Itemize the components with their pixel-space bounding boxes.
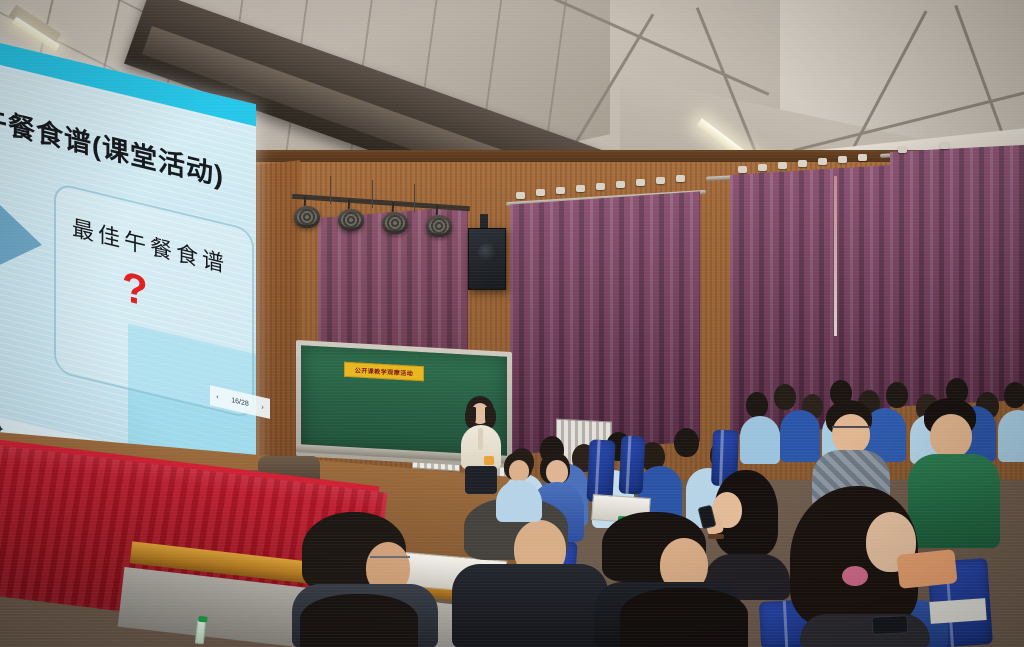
observer-bottom-left [300, 594, 420, 647]
slide-prev-button[interactable]: ‹ [216, 393, 218, 401]
glasses-icon [832, 426, 870, 432]
jacket [800, 614, 930, 647]
event-banner-text: 公开课教学观摩活动 [355, 365, 414, 377]
arrow-right-icon [0, 173, 42, 299]
glasses-icon [370, 556, 410, 564]
curtain-ring [616, 181, 625, 188]
spotlight-lens [297, 209, 317, 225]
light-cable [414, 184, 415, 212]
spotlight-lens [429, 218, 449, 234]
bottle-cap [198, 616, 208, 623]
spotlight-lens [341, 212, 361, 228]
curtain-ring [778, 162, 787, 169]
curtain-ring [838, 156, 847, 163]
light-cable [372, 180, 373, 208]
curtain-ring [758, 164, 767, 171]
hair-tie [842, 566, 868, 586]
light-cable [330, 176, 331, 204]
curtain-panel-left [510, 191, 700, 454]
face [930, 414, 972, 458]
student-near-stage [496, 452, 542, 522]
stage-spotlight-2 [338, 209, 364, 231]
curtain-ring [516, 192, 525, 199]
observer-bottom-right [620, 588, 750, 647]
curtain-panel-right [890, 144, 1024, 407]
student-uniform [998, 410, 1024, 462]
curtain-pull-cord [834, 176, 837, 336]
curtain-ring [636, 179, 645, 186]
curtain-ring [596, 183, 605, 190]
wall-speaker [468, 228, 506, 290]
student-head [1004, 382, 1024, 408]
curtain-ring [940, 142, 949, 149]
curtain-ring [536, 189, 545, 196]
projection-screen-assembly: 份午餐食谱(课堂活动) 最佳午餐食谱 ? ‹ 16/28 › ✦ 墨迹 ➤ 激光 [0, 40, 256, 480]
speaker-cone [478, 243, 498, 263]
photo-scene: 份午餐食谱(课堂活动) 最佳午餐食谱 ? ‹ 16/28 › ✦ 墨迹 ➤ 激光 [0, 0, 1024, 647]
presenter-skirt [465, 466, 497, 494]
presenter-collar [478, 428, 483, 450]
paper-sheet [929, 598, 986, 624]
orange-cloth [896, 549, 957, 589]
audience-chair[interactable] [618, 435, 645, 494]
hair [620, 588, 748, 647]
curtain-ring [676, 175, 685, 182]
slide-question-mark: ? [122, 262, 148, 316]
curtain-ring [858, 154, 867, 161]
curtain-ring [738, 166, 747, 173]
smartphone-on-desk[interactable] [872, 615, 909, 635]
stage-spotlight-1 [294, 206, 320, 228]
stage-spotlight-4 [426, 215, 452, 237]
student-face [546, 460, 568, 484]
presenter-held-object [484, 456, 494, 465]
curtain-ring [818, 158, 827, 165]
slide-next-button[interactable]: › [261, 403, 263, 411]
curtain-ring [656, 177, 665, 184]
curtain-ring [898, 146, 907, 153]
student-head [746, 392, 768, 418]
spotlight-lens [385, 215, 405, 231]
hair [300, 594, 418, 647]
curtain-ring [556, 187, 565, 194]
water-bottle-stage[interactable] [195, 620, 206, 645]
face [832, 414, 870, 454]
student-uniform [496, 480, 542, 522]
face [509, 460, 529, 482]
stage-spotlight-3 [382, 212, 408, 234]
student-head [674, 428, 699, 457]
audience-chair[interactable] [586, 439, 615, 502]
curtain-ring [576, 185, 585, 192]
slide-counter: 16/28 [231, 396, 249, 407]
jacket [452, 564, 608, 647]
student-head [774, 384, 796, 410]
curtain-ring [798, 160, 807, 167]
